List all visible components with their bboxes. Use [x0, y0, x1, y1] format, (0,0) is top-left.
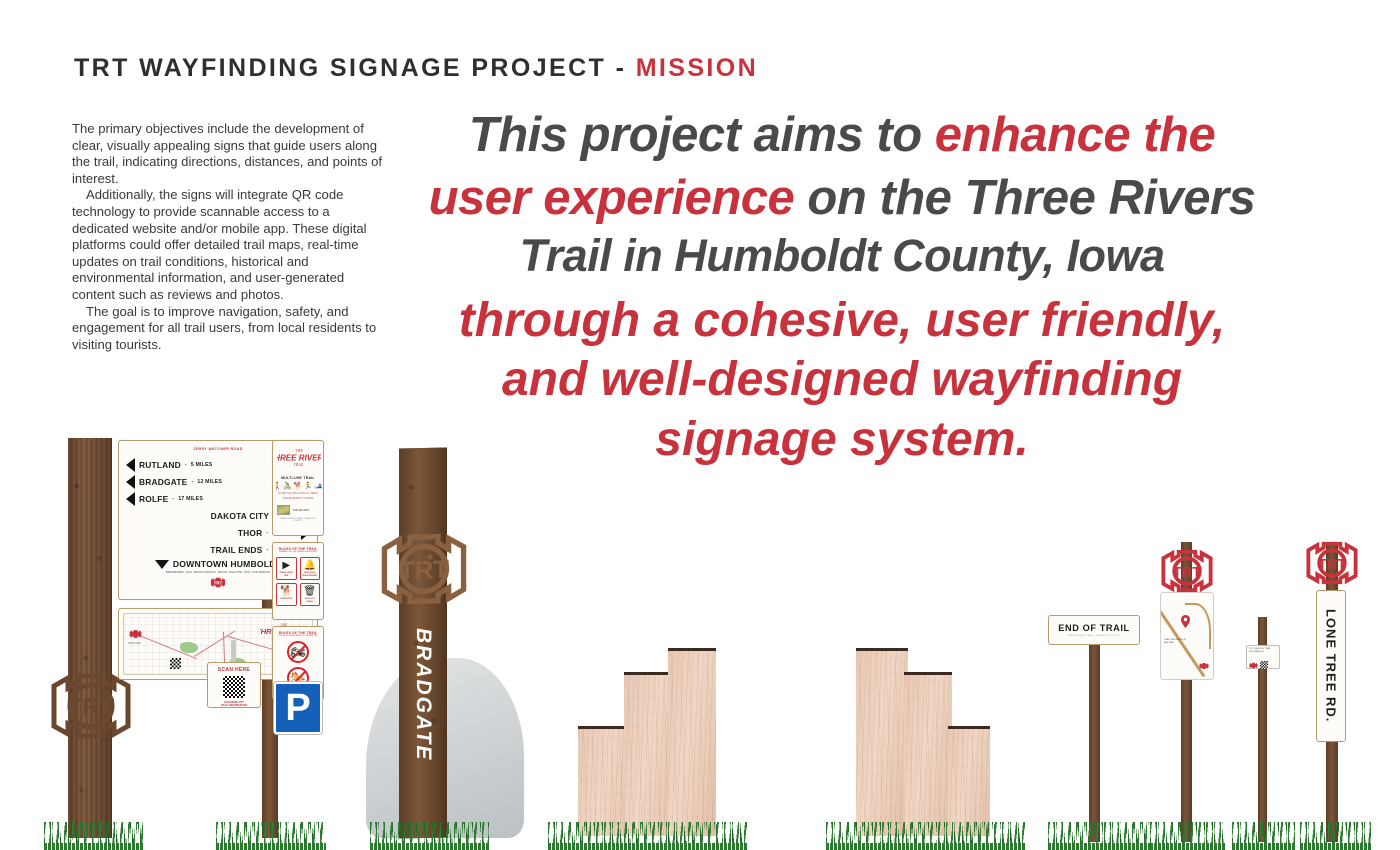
end-of-trail-footer: THREE RIVERS TRAIL • HUMBOLDT COUNTY	[1067, 635, 1121, 637]
small-info-sign: TRT SCAN FOR TRAIL INFORMATION	[1246, 645, 1280, 669]
arrow-left-icon	[126, 475, 135, 489]
plank-right-tall	[856, 648, 908, 836]
body-copy: The primary objectives include the devel…	[72, 121, 388, 353]
headline-line-1: This project aims to enhance the	[422, 112, 1262, 159]
scan-footer-line-2: TRAIL INFORMATION	[212, 704, 256, 707]
destination-distance: 5 MILES	[191, 462, 213, 468]
plank-left-tall	[668, 648, 716, 836]
mission-headline: This project aims to enhance the user ex…	[422, 112, 1262, 463]
headline-line-1-grey: This project aims to	[469, 108, 935, 162]
three-rivers-logo-sign: THE THREE RIVERS TRAIL MULTI-USE TRAIL 🚶…	[272, 440, 324, 536]
destination-dash: -	[266, 530, 268, 536]
trail-user-icons: 🚶 🚴 🐕 🏃 🎿	[277, 483, 319, 490]
svg-text:TRT: TRT	[1173, 565, 1202, 581]
rule-caption: LEASH PETS	[278, 598, 295, 601]
grass-bradgate	[370, 822, 490, 850]
destination-name: BRADGATE	[139, 477, 187, 487]
parking-sign: P	[274, 682, 322, 734]
destination-dash: -	[191, 479, 193, 485]
body-paragraph-2: Additionally, the signs will integrate Q…	[72, 187, 388, 303]
destination-dash: -	[172, 496, 174, 502]
destination-name: ROLFE	[139, 494, 168, 504]
rule-caption: PACK OUT TRASH	[302, 598, 319, 603]
info-kiosk-body: TRAIL INFORMATION AND MAP	[1164, 639, 1190, 645]
page-title-main: TRT WAYFINDING SIGNAGE PROJECT	[74, 54, 606, 82]
scan-here-sign: SCAN HERE FOR MORE TRT TRAIL INFORMATION	[207, 662, 261, 708]
skier-icon: 🎿	[314, 483, 323, 490]
you-are-here-pin-icon	[1181, 615, 1190, 633]
grass-info-kiosk	[1150, 822, 1226, 850]
destination-name: DAKOTA CITY	[211, 511, 270, 521]
rule-cell: 🔔 ANNOUNCE WHEN PASSING	[300, 557, 321, 580]
plank-right-mid	[904, 672, 952, 836]
svg-text:TRT: TRT	[1318, 557, 1347, 573]
headline-line-3: Trail in Humboldt County, Iowa	[422, 235, 1262, 278]
qr-code[interactable]	[1260, 661, 1268, 669]
grass-small-sign	[1232, 822, 1296, 850]
arrow-left-icon	[126, 492, 135, 506]
bradgate-label-text: BRADGATE	[411, 628, 435, 762]
rule-cell: ▶ TRAVEL RIGHT SIDE	[276, 557, 297, 580]
no-motor-vehicles-icon: 🏍	[287, 641, 309, 663]
trt-logo-mini-icon	[1249, 656, 1258, 674]
grass-plank-right	[826, 822, 1026, 850]
trt-logo-mini-icon	[1199, 657, 1209, 675]
svg-text:TRAIL: TRAIL	[294, 463, 306, 467]
rule-caption: TRAVEL RIGHT SIDE	[278, 572, 295, 577]
headline-line-2: user experience on the Three Rivers	[422, 175, 1262, 222]
leash-pets-icon: 🐕	[278, 586, 295, 597]
grass-street-sign	[1300, 822, 1372, 850]
three-rivers-contact: 515-332-4047	[277, 505, 319, 515]
announce-passing-icon: 🔔	[302, 560, 319, 571]
three-rivers-logo-icon: THE THREE RIVERS TRAIL	[277, 446, 319, 473]
destination-distance: 12 MILES	[197, 479, 222, 485]
pack-out-trash-icon: 🗑	[302, 586, 319, 597]
destination-name: DOWNTOWN HUMBOLDT	[173, 559, 281, 569]
arrow-left-icon	[126, 458, 135, 472]
destination-dash: -	[266, 547, 268, 553]
page-title: TRT WAYFINDING SIGNAGE PROJECT - MISSION	[74, 54, 758, 83]
walker-icon: 🚶	[273, 483, 282, 490]
kiosk-main-post	[68, 438, 112, 838]
plank-right-short	[948, 726, 990, 836]
three-rivers-note-2: PLEASE RESPECT OTHERS	[277, 498, 319, 501]
street-name-label: LONE TREE RD.	[1324, 609, 1339, 722]
rule-cell: 🐕 LEASH PETS	[276, 583, 297, 606]
info-kiosk-panel: TRAIL INFORMATION AND MAP	[1160, 592, 1214, 680]
map-route-line	[194, 631, 235, 657]
arrow-down-icon	[155, 560, 169, 569]
destination-name: THOR	[238, 528, 263, 538]
end-of-trail-post	[1089, 637, 1100, 842]
travel-right-icon: ▶	[278, 560, 295, 571]
page-title-accent: MISSION	[636, 54, 758, 82]
svg-text:TRT: TRT	[214, 580, 223, 585]
headline-line-2-grey: on the Three Rivers	[794, 171, 1255, 225]
destination-distance: 17 MILES	[178, 496, 203, 502]
grass-kiosk-left	[44, 822, 144, 850]
cyclist-icon: 🚴	[283, 483, 292, 490]
headline-line-2-red: user experience	[429, 171, 795, 225]
three-rivers-note: SHARE THE TRAIL WITH ALL USERS	[277, 493, 319, 496]
poster-page: TRT WAYFINDING SIGNAGE PROJECT - MISSION…	[0, 0, 1400, 850]
rules-pictogram-grid: ▶ TRAVEL RIGHT SIDE 🔔 ANNOUNCE WHEN PASS…	[276, 557, 320, 606]
three-rivers-subtitle: MULTI-USE TRAIL	[277, 476, 319, 480]
trt-logo-topper-street: TRT	[1303, 540, 1361, 591]
headline-line-1-red: enhance the	[935, 108, 1215, 162]
trt-logo-medallion-carved: TRT	[48, 670, 134, 742]
trail-photo-thumbnail	[277, 505, 290, 515]
svg-text:TRT: TRT	[68, 694, 115, 721]
dog-walker-icon: 🐕	[294, 483, 303, 490]
grass-plank-left	[548, 822, 748, 850]
rule-caption: ANNOUNCE WHEN PASSING	[302, 572, 319, 577]
page-title-dash: -	[616, 54, 627, 82]
grass-end-of-trail	[1048, 822, 1152, 850]
rule-cell: 🗑 PACK OUT TRASH	[300, 583, 321, 606]
parking-letter: P	[285, 689, 310, 727]
destination-name: RUTLAND	[139, 460, 181, 470]
bradgate-label: BRADGATE	[399, 579, 447, 810]
map-qr-code	[170, 658, 181, 669]
svg-text:THREE RIVERS: THREE RIVERS	[277, 454, 321, 463]
signage-illustration-scene: TRT JERRY WATCHER ROAD RUTLAND - 5 MILES…	[0, 430, 1400, 850]
prohibition-subtitle: THE FOLLOWING ARE NOT PERMITTED	[276, 635, 320, 638]
headline-line-5: and well-designed wayfinding	[422, 357, 1262, 403]
body-paragraph-1: The primary objectives include the devel…	[72, 121, 388, 187]
end-of-trail-sign: END OF TRAIL THREE RIVERS TRAIL • HUMBOL…	[1048, 615, 1140, 645]
body-paragraph-3: The goal is to improve navigation, safet…	[72, 304, 388, 354]
runner-icon: 🏃	[304, 483, 313, 490]
destination-name: TRAIL ENDS	[210, 545, 262, 555]
scan-here-title: SCAN HERE	[212, 667, 256, 673]
trt-logo-map-icon	[129, 626, 142, 644]
destination-dash: -	[185, 462, 187, 468]
headline-line-4: through a cohesive, user friendly,	[422, 298, 1262, 344]
three-rivers-footer: THREE RIVERS TRAIL • HUMBOLDT COUNTY	[277, 518, 319, 522]
map-park-area	[180, 642, 198, 653]
qr-code[interactable]	[222, 675, 246, 699]
grass-kiosk-right	[216, 822, 326, 850]
contact-phone: 515-332-4047	[293, 509, 309, 512]
small-sign-row	[1249, 656, 1277, 674]
svg-text:THE: THE	[295, 448, 303, 453]
small-sign-body: TRT SCAN FOR TRAIL INFORMATION	[1249, 648, 1277, 654]
rules-subtitle: PLEASE FOLLOW THESE GUIDELINES	[276, 551, 320, 554]
rules-of-trail-sign: RULES OF THE TRAIL PLEASE FOLLOW THESE G…	[272, 542, 324, 620]
street-name-sign: LONE TREE RD.	[1316, 590, 1346, 742]
end-of-trail-label: END OF TRAIL	[1058, 623, 1130, 633]
